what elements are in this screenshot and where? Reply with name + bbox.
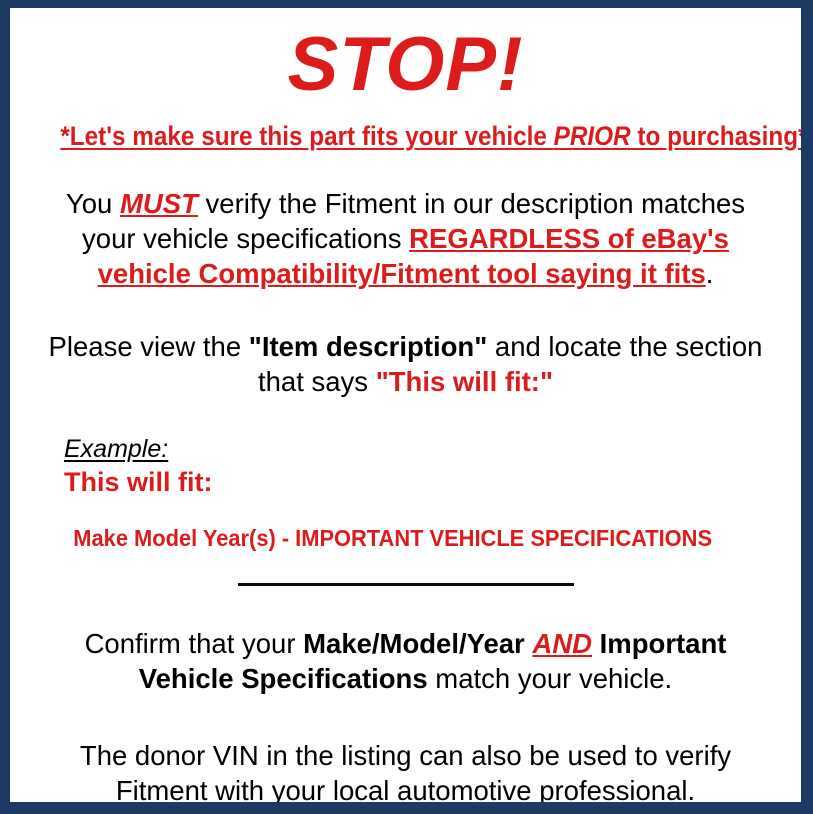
example-fit-heading: This will fit: [64,464,793,498]
emphasis-and: AND [532,628,592,659]
example-label-row: Example: [64,435,793,464]
confirm-space-2 [592,628,600,659]
subtitle-text-part1: *Let's make sure this part fits your veh… [60,121,553,151]
example-block: Example: This will fit: Make Model Year(… [18,399,793,552]
example-label: Example: [64,435,168,464]
emphasis-this-will-fit: "This will fit:" [376,366,553,397]
page-title: STOP! [18,8,793,108]
subtitle-text-part2: to purchasing* [631,121,808,151]
fitment-notice-card: STOP! *Let's make sure this part fits yo… [0,0,813,814]
must-text-part3: . [706,258,714,289]
confirm-paragraph: Confirm that your Make/Model/Year AND Im… [18,594,793,696]
divider-wrapper [18,552,793,594]
subtitle-emphasis-prior: PRIOR [554,121,631,151]
subtitle-banner: *Let's make sure this part fits your veh… [57,108,755,152]
confirm-text-part4: match your vehicle. [428,663,673,694]
view-text-part1: Please view the [49,331,249,362]
emphasis-must: MUST [120,188,198,219]
must-verify-paragraph: You MUST verify the Fitment in our descr… [18,152,793,291]
emphasis-make-model-year: Make/Model/Year [303,628,525,659]
confirm-text-part1: Confirm that your [85,628,304,659]
notice-content-area: STOP! *Let's make sure this part fits yo… [10,8,801,802]
horizontal-rule-icon [238,583,574,586]
example-spec-line: Make Model Year(s) - IMPORTANT VEHICLE S… [64,498,742,552]
vin-paragraph: The donor VIN in the listing can also be… [18,696,793,808]
must-text-part1: You [66,188,120,219]
emphasis-item-description: "Item description" [249,331,487,362]
thank-you-line: Thank you for confirming Fitment! [18,808,793,814]
view-description-paragraph: Please view the "Item description" and l… [18,291,793,399]
